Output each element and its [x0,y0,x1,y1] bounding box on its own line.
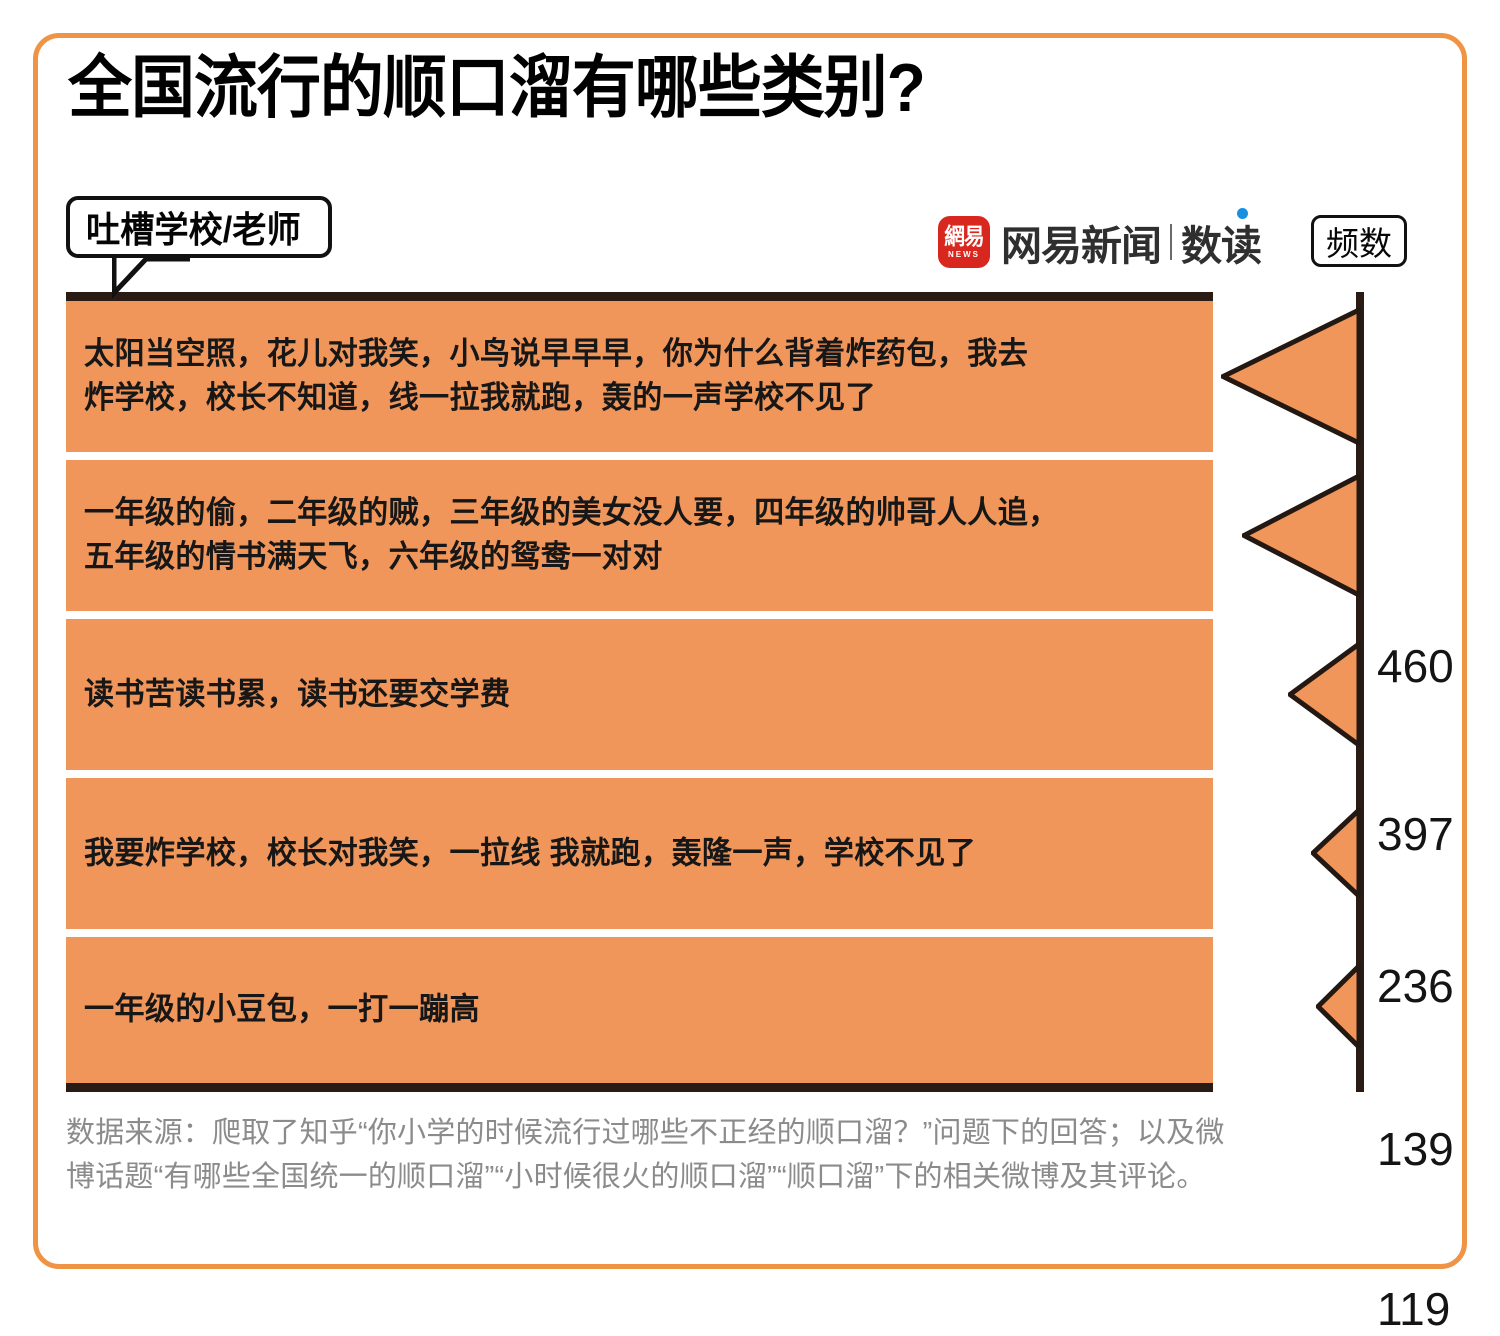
brand-section-wrap: 数读 [1181,212,1261,272]
value-marker-triangle [1288,642,1361,747]
row-label-line: 一年级的偷，二年级的贼，三年级的美女没人要，四年级的帅哥人人追， [84,491,1158,536]
source-note: 数据来源：爬取了知乎“你小学的时候流行过哪些不正经的顺口溜？”问题下的回答；以及… [66,1112,1231,1199]
chart-row: 一年级的小豆包，一打一蹦高 [66,937,1213,1083]
category-badge-label: 吐槽学校/老师 [86,201,301,253]
value-marker-triangle [1221,308,1361,445]
row-label: 一年级的偷，二年级的贼，三年级的美女没人要，四年级的帅哥人人追， 五年级的情书满… [84,491,1191,581]
brand-name: 网易新闻 [1001,212,1161,272]
row-label-line: 太阳当空照，花儿对我笑，小鸟说早早早，你为什么背着炸药包，我去 [84,332,1158,377]
category-badge: 吐槽学校/老师 [66,196,332,258]
chart-plot-area: 太阳当空照，花儿对我笑，小鸟说早早早，你为什么背着炸药包，我去 炸学校，校长不知… [66,292,1446,1092]
logo-divider [1170,224,1172,260]
row-label: 一年级的小豆包，一打一蹦高 [84,988,1191,1033]
row-label-line: 五年级的情书满天飞，六年级的鸳鸯一对对 [84,536,1158,581]
netease-logo-text: 网易新闻 数读 [1001,212,1261,272]
row-label-line: 我要炸学校，校长对我笑，一拉线 我就跑，轰隆一声，学校不见了 [84,831,1158,876]
row-label-line: 炸学校，校长不知道，线一拉我就跑，轰的一声学校不见了 [84,377,1158,422]
row-value: 460 [1377,639,1454,693]
chart-row: 太阳当空照，花儿对我笑，小鸟说早早早，你为什么背着炸药包，我去 炸学校，校长不知… [66,301,1213,452]
frequency-axis-label: 频数 [1326,217,1392,265]
accent-dot-icon [1237,208,1248,219]
page-title: 全国流行的顺口溜有哪些类别? [68,52,925,125]
plot-bottom-rule [66,1083,1213,1092]
frequency-axis-badge: 频数 [1311,215,1407,267]
row-label-line: 一年级的小豆包，一打一蹦高 [84,988,1158,1033]
row-label: 太阳当空照，花儿对我笑，小鸟说早早早，你为什么背着炸药包，我去 炸学校，校长不知… [84,332,1191,422]
plot-top-rule [66,292,1213,301]
netease-logo: 網易 NEWS 网易新闻 数读 [938,216,1261,268]
value-marker-triangle [1316,964,1361,1049]
chart-row: 一年级的偷，二年级的贼，三年级的美女没人要，四年级的帅哥人人追， 五年级的情书满… [66,460,1213,611]
row-label: 我要炸学校，校长对我笑，一拉线 我就跑，轰隆一声，学校不见了 [84,831,1191,876]
logo-mark-en: NEWS [948,251,980,259]
row-value: 139 [1377,1122,1454,1176]
logo-mark-cn: 網易 [944,225,984,248]
row-value: 397 [1377,807,1454,861]
row-value: 119 [1377,1282,1450,1336]
brand-section: 数读 [1181,223,1261,269]
row-label-line: 读书苦读书累，读书还要交学费 [84,672,1158,717]
chart-row: 我要炸学校，校长对我笑，一拉线 我就跑，轰隆一声，学校不见了 [66,778,1213,929]
speech-bubble-tail-icon [112,253,192,299]
netease-logo-mark: 網易 NEWS [938,216,990,268]
value-marker-triangle [1242,474,1361,597]
chart-row: 读书苦读书累，读书还要交学费 [66,619,1213,770]
row-value: 236 [1377,959,1454,1013]
row-label: 读书苦读书累，读书还要交学费 [84,672,1191,717]
value-marker-triangle [1311,808,1361,898]
